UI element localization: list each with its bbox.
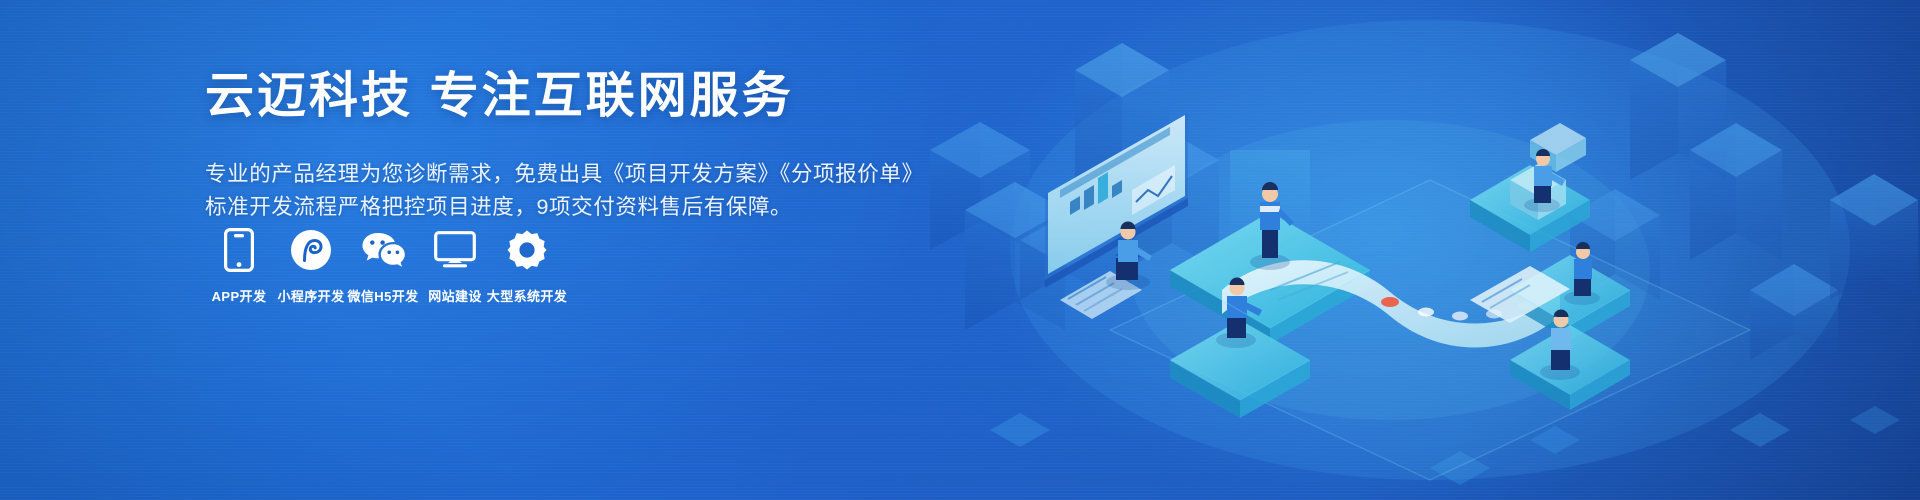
service-label: 微信H5开发 <box>347 286 418 305</box>
subtitle-line-2: 标准开发流程严格把控项目进度，9项交付资料售后有保障。 <box>205 191 965 224</box>
gear-icon <box>505 228 549 272</box>
hero-copy: 云迈科技 专注互联网服务 专业的产品经理为您诊断需求，免费出具《项目开发方案》《… <box>205 68 965 224</box>
service-list: APP开发 小程序开发 微信 <box>203 228 563 305</box>
service-label: 大型系统开发 <box>487 286 567 305</box>
service-item-wechat-h5[interactable]: 微信H5开发 <box>347 228 419 305</box>
page-title: 云迈科技 专注互联网服务 <box>205 68 965 126</box>
isometric-illustration <box>870 0 1920 500</box>
hero-subtitle: 专业的产品经理为您诊断需求，免费出具《项目开发方案》《分项报价单》 标准开发流程… <box>205 158 965 224</box>
mini-program-icon <box>289 228 333 272</box>
service-item-mini-program[interactable]: 小程序开发 <box>275 228 347 305</box>
mobile-phone-icon <box>217 228 261 272</box>
service-label: 网站建设 <box>428 286 482 305</box>
desktop-monitor-icon <box>433 228 477 272</box>
service-label: APP开发 <box>212 286 267 305</box>
subtitle-line-1: 专业的产品经理为您诊断需求，免费出具《项目开发方案》《分项报价单》 <box>205 158 965 191</box>
service-label: 小程序开发 <box>277 286 344 305</box>
hero-banner: 云迈科技 专注互联网服务 专业的产品经理为您诊断需求，免费出具《项目开发方案》《… <box>0 0 1920 500</box>
service-item-app[interactable]: APP开发 <box>203 228 275 305</box>
service-item-website[interactable]: 网站建设 <box>419 228 491 305</box>
service-item-large-system[interactable]: 大型系统开发 <box>491 228 563 305</box>
wechat-icon <box>361 228 405 272</box>
